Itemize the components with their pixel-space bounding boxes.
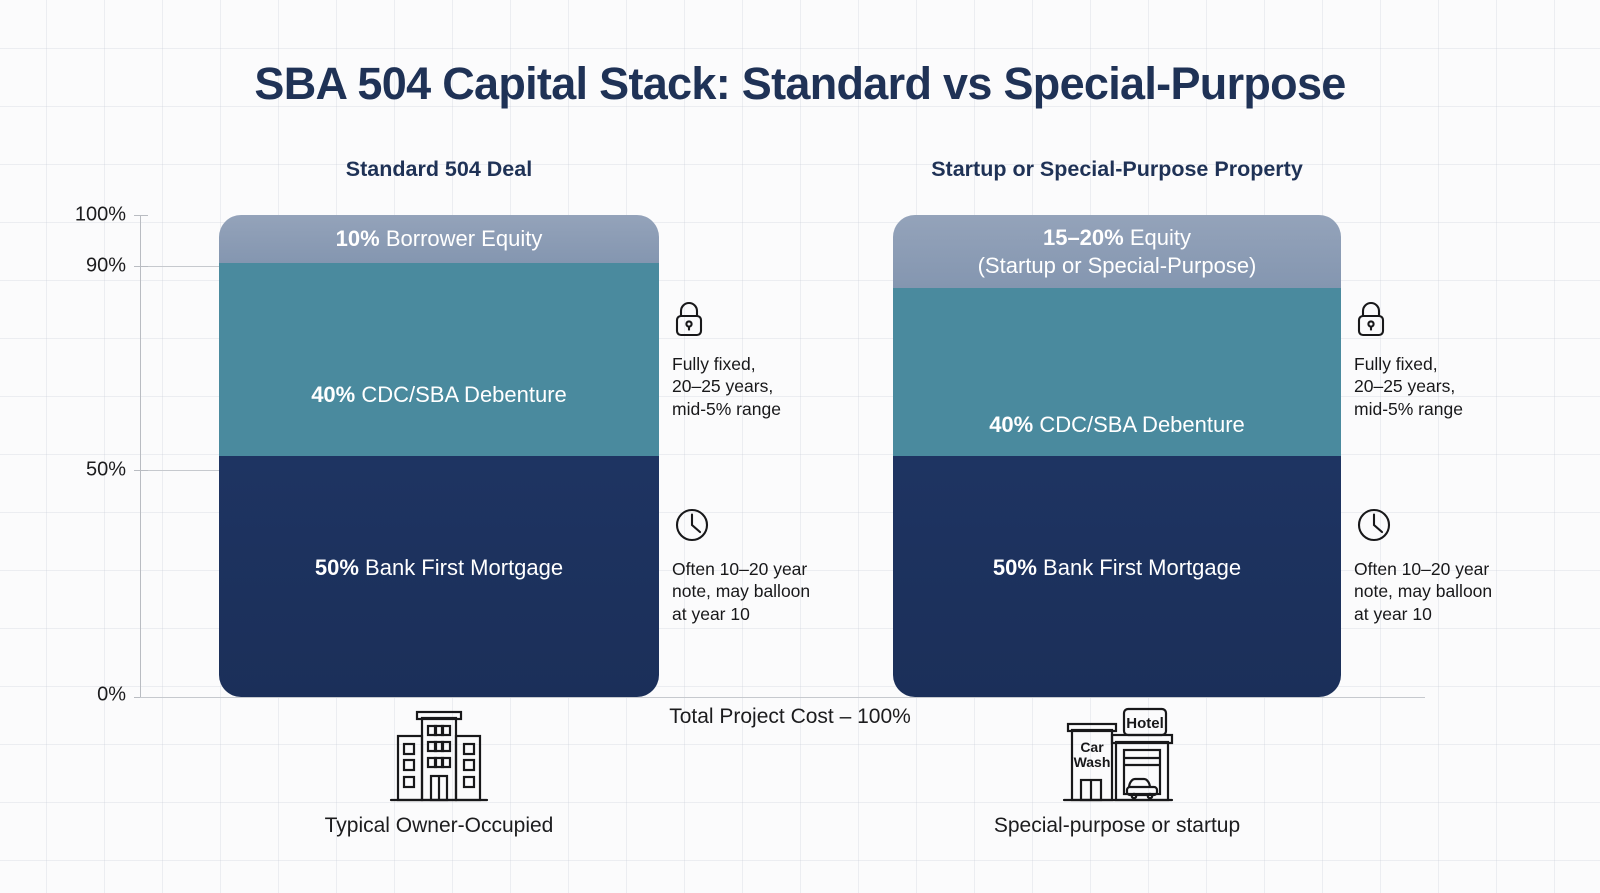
segment-cdc-sba-debenture-standard: 40% CDC/SBA Debenture	[219, 263, 659, 456]
segment-label: Equity	[1130, 225, 1191, 250]
office-building-icon	[219, 700, 659, 808]
lock-icon	[672, 300, 862, 345]
annotation-text: Fully fixed, 20–25 years, mid-5% range	[672, 353, 862, 420]
segment-bank-first-mortgage-special: 50% Bank First Mortgage	[893, 456, 1341, 697]
y-axis-label-50: 50%	[26, 459, 126, 482]
segment-pct: 15–20%	[1043, 225, 1124, 250]
clock-icon	[1354, 505, 1544, 550]
footer-special: Car Wash Hotel Special-purpose or startu…	[897, 700, 1337, 838]
gridline-50	[148, 470, 220, 471]
footer-standard: Typical Owner-Occupied	[219, 700, 659, 838]
segment-label: Borrower Equity	[386, 226, 543, 251]
svg-text:Hotel: Hotel	[1126, 715, 1164, 732]
segment-label: Bank First Mortgage	[365, 555, 563, 580]
segment-equity-special: 15–20% Equity (Startup or Special-Purpos…	[893, 215, 1341, 288]
segment-pct: 10%	[336, 226, 380, 251]
segment-pct: 40%	[311, 382, 355, 407]
carwash-hotel-icon: Car Wash Hotel	[897, 700, 1337, 808]
y-tick-50	[134, 470, 148, 471]
annotation-mortgage-terms-special: Often 10–20 year note, may balloon at ye…	[1354, 505, 1544, 625]
y-axis-label-0: 0%	[26, 684, 126, 707]
segment-bank-first-mortgage-standard: 50% Bank First Mortgage	[219, 456, 659, 697]
segment-label: CDC/SBA Debenture	[1039, 412, 1244, 437]
column-header-special: Startup or Special-Purpose Property	[893, 157, 1341, 182]
annotation-mortgage-terms-standard: Often 10–20 year note, may balloon at ye…	[672, 505, 862, 625]
clock-icon	[672, 505, 862, 550]
annotation-text: Often 10–20 year note, may balloon at ye…	[1354, 558, 1544, 625]
y-tick-100	[134, 215, 148, 216]
segment-pct: 50%	[993, 555, 1037, 580]
svg-text:Car: Car	[1080, 739, 1104, 755]
capital-stack-bar-special: 15–20% Equity (Startup or Special-Purpos…	[893, 215, 1341, 697]
y-axis-label-100: 100%	[26, 204, 126, 227]
segment-borrower-equity-standard: 10% Borrower Equity	[219, 215, 659, 263]
annotation-debenture-terms-special: Fully fixed, 20–25 years, mid-5% range	[1354, 300, 1544, 420]
capital-stack-bar-standard: 10% Borrower Equity 40% CDC/SBA Debentur…	[219, 215, 659, 697]
segment-label: CDC/SBA Debenture	[361, 382, 566, 407]
y-axis-label-90: 90%	[26, 255, 126, 278]
segment-pct: 50%	[315, 555, 359, 580]
segment-cdc-sba-debenture-special: 40% CDC/SBA Debenture	[893, 288, 1341, 456]
svg-text:Wash: Wash	[1074, 754, 1111, 770]
page-title: SBA 504 Capital Stack: Standard vs Speci…	[0, 58, 1600, 110]
segment-label: Bank First Mortgage	[1043, 555, 1241, 580]
column-header-standard: Standard 504 Deal	[219, 157, 659, 182]
segment-sublabel: (Startup or Special-Purpose)	[978, 253, 1257, 278]
y-tick-90	[134, 266, 148, 267]
annotation-text: Fully fixed, 20–25 years, mid-5% range	[1354, 353, 1544, 420]
x-axis-baseline	[140, 697, 1425, 698]
infographic-canvas: SBA 504 Capital Stack: Standard vs Speci…	[0, 0, 1600, 893]
annotation-text: Often 10–20 year note, may balloon at ye…	[672, 558, 862, 625]
gridline-90	[148, 266, 220, 267]
lock-icon	[1354, 300, 1544, 345]
footer-caption: Special-purpose or startup	[897, 814, 1337, 838]
footer-caption: Typical Owner-Occupied	[219, 814, 659, 838]
annotation-debenture-terms-standard: Fully fixed, 20–25 years, mid-5% range	[672, 300, 862, 420]
segment-pct: 40%	[989, 412, 1033, 437]
y-axis-line	[140, 215, 141, 697]
